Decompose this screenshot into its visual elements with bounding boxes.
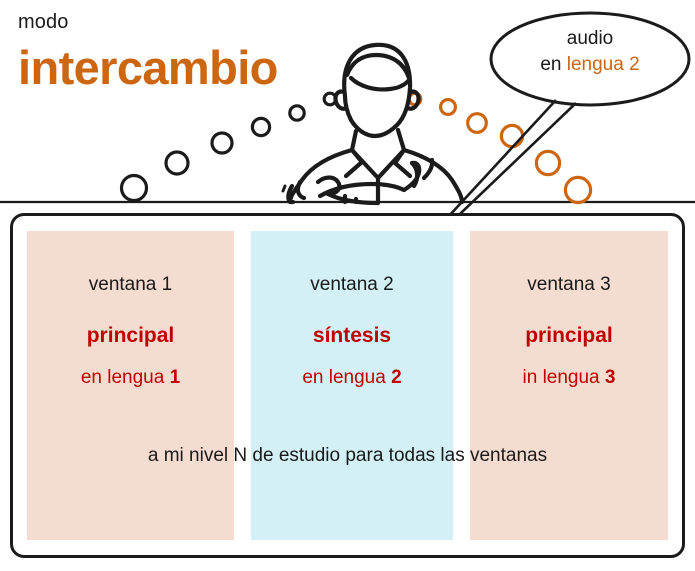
diagram-canvas: modo intercambio	[0, 0, 695, 571]
column-title: ventana 2	[251, 275, 453, 294]
column-language-number: 3	[605, 367, 616, 388]
column-role: síntesis	[251, 325, 453, 346]
speech-bubble-line1: audio	[567, 28, 614, 49]
column-ventana-3[interactable]: ventana 3 principal in lengua 3	[470, 231, 668, 540]
column-language: in lengua 3	[470, 368, 668, 387]
black-circle-trail	[122, 93, 336, 200]
column-language: en lengua 2	[251, 368, 453, 387]
column-language: en lengua 1	[27, 368, 234, 387]
speech-bubble-line2-accent: lengua 2	[567, 54, 640, 75]
speech-bubble-line2-prefix: en	[540, 54, 566, 75]
column-role: principal	[27, 325, 234, 346]
speech-bubble-text: audio en lengua 2	[505, 26, 675, 77]
column-ventana-2[interactable]: ventana 2 síntesis en lengua 2	[251, 231, 453, 540]
column-title: ventana 1	[27, 275, 234, 294]
orange-circle-trail	[409, 93, 590, 202]
column-language-number: 2	[391, 367, 402, 388]
windows-columns: ventana 1 principal en lengua 1 ventana …	[10, 213, 685, 558]
column-ventana-1[interactable]: ventana 1 principal en lengua 1	[27, 231, 234, 540]
panel-footer-note: a mi nivel N de estudio para todas las v…	[10, 446, 685, 465]
column-language-number: 1	[170, 367, 181, 388]
column-language-prefix: in lengua	[523, 367, 605, 388]
column-language-prefix: en lengua	[81, 367, 170, 388]
person-figure	[283, 45, 462, 203]
page-title: intercambio	[18, 44, 278, 91]
heading-eyebrow: modo	[18, 12, 68, 32]
column-language-prefix: en lengua	[302, 367, 391, 388]
column-title: ventana 3	[470, 275, 668, 294]
column-role: principal	[470, 325, 668, 346]
